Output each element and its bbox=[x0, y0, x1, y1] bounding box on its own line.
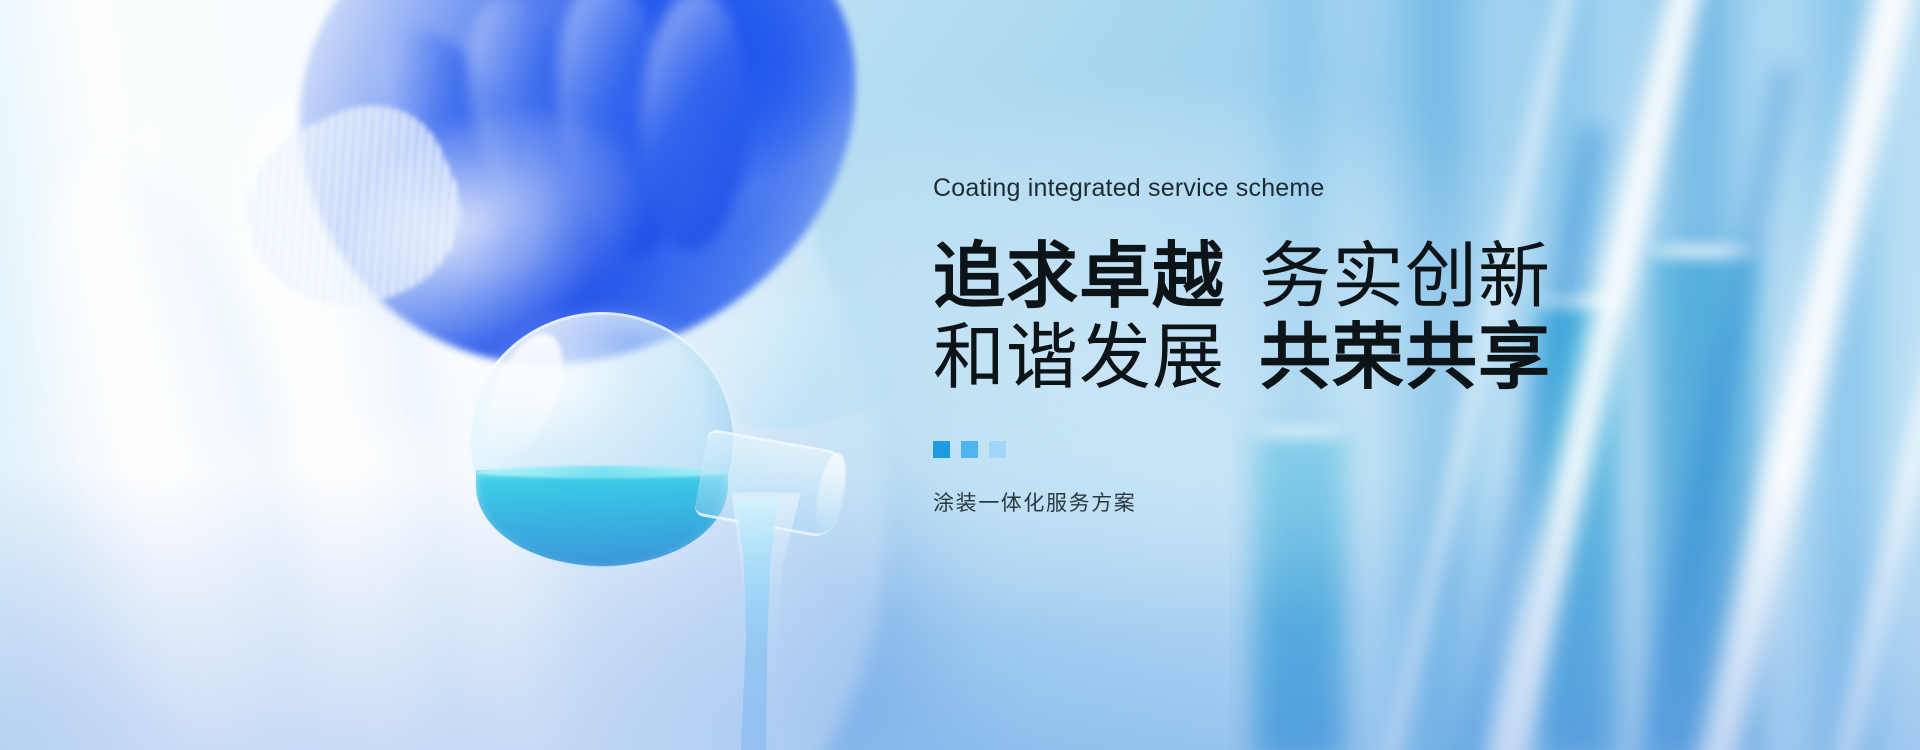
headline-line-2-strong: 共荣共享 bbox=[1259, 318, 1551, 398]
hero-text-block: Coating integrated service scheme 追求卓越务实… bbox=[933, 176, 1813, 517]
headline-line-1-light: 务实创新 bbox=[1259, 237, 1551, 317]
decorative-square-dots bbox=[933, 441, 1813, 458]
headline-line-1: 追求卓越务实创新 bbox=[933, 237, 1813, 318]
headline-line-2-light: 和谐发展 bbox=[933, 318, 1225, 398]
headline-line-2: 和谐发展共荣共享 bbox=[933, 318, 1813, 399]
square-dot-3 bbox=[989, 441, 1006, 458]
headline-line-1-strong: 追求卓越 bbox=[933, 237, 1225, 317]
square-dot-1 bbox=[933, 441, 950, 458]
hero-banner: Coating integrated service scheme 追求卓越务实… bbox=[0, 0, 1920, 750]
hero-headline: 追求卓越务实创新 和谐发展共荣共享 bbox=[933, 237, 1813, 398]
hero-eyebrow-english: Coating integrated service scheme bbox=[933, 176, 1813, 201]
square-dot-2 bbox=[961, 441, 978, 458]
hero-caption-chinese: 涂装一体化服务方案 bbox=[933, 487, 1813, 517]
